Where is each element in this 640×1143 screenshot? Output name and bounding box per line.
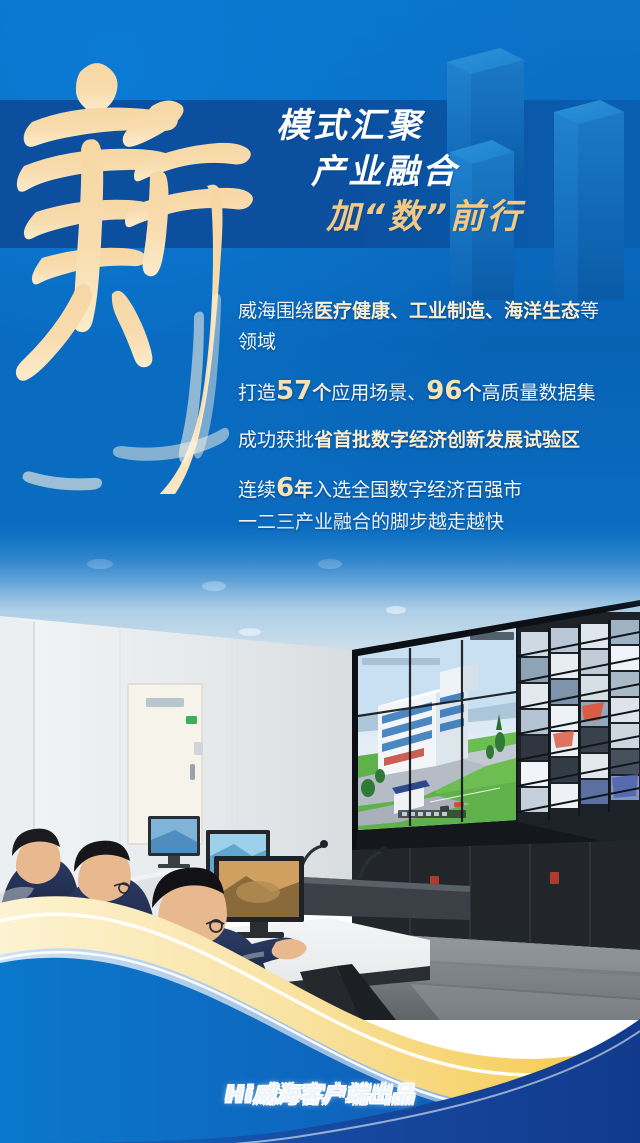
p4-seg-1: 连续 bbox=[238, 479, 276, 501]
footer-logo-text: 威海客户端出品 bbox=[253, 1083, 414, 1108]
headline-block: 模式汇聚 产业融合 加“数”前行 bbox=[0, 104, 640, 241]
p2-line2: 数据集 bbox=[538, 382, 595, 404]
headline-line-1: 模式汇聚 bbox=[0, 104, 640, 150]
body-paragraph-3: 成功获批省首批数字经济创新发展试验区 bbox=[238, 425, 618, 456]
p2-seg-6: 个 bbox=[462, 382, 481, 404]
body-paragraph-2: 打造57个应用场景、96个高质量数据集 bbox=[238, 372, 618, 411]
headline-line-2: 产业融合 bbox=[0, 150, 640, 196]
p2-seg-7: 高质量 bbox=[481, 382, 538, 404]
p4-seg-4: 入选全国数字经济百强市 bbox=[313, 479, 522, 501]
p2-seg-1: 打造 bbox=[238, 382, 276, 404]
p2-seg-4: 应用场景、 bbox=[331, 382, 426, 404]
p1-seg-2: 医疗健康、工业制造、海洋 bbox=[314, 300, 542, 322]
p3-seg-2: 省首批数字经济创新发展试 bbox=[314, 429, 542, 451]
p2-number-96: 96 bbox=[426, 376, 462, 406]
p3-line2: 验区 bbox=[542, 429, 580, 451]
p1-line2-seg-1: 生态 bbox=[542, 300, 580, 322]
p1-seg-1: 威海围绕 bbox=[238, 300, 314, 322]
p2-seg-3: 个 bbox=[312, 382, 331, 404]
footer-logo-prefix: Hi bbox=[226, 1083, 254, 1108]
body-copy: 威海围绕医疗健康、工业制造、海洋生态等领域 打造57个应用场景、96个高质量数据… bbox=[238, 296, 618, 537]
body-paragraph-1: 威海围绕医疗健康、工业制造、海洋生态等领域 bbox=[238, 296, 618, 358]
footer-logo: Hi威海客户端出品 bbox=[0, 1077, 640, 1109]
headline-line-3: 加“数”前行 bbox=[0, 195, 640, 241]
p2-number-57: 57 bbox=[276, 376, 312, 406]
poster-root: 模式汇聚 产业融合 加“数”前行 威海围绕医疗健康、工业制造、海洋生态等领域 打… bbox=[0, 0, 640, 1143]
p4-number-6: 6 bbox=[276, 473, 294, 503]
p3-seg-1: 成功获批 bbox=[238, 429, 314, 451]
p4-seg-3: 年 bbox=[294, 479, 313, 501]
